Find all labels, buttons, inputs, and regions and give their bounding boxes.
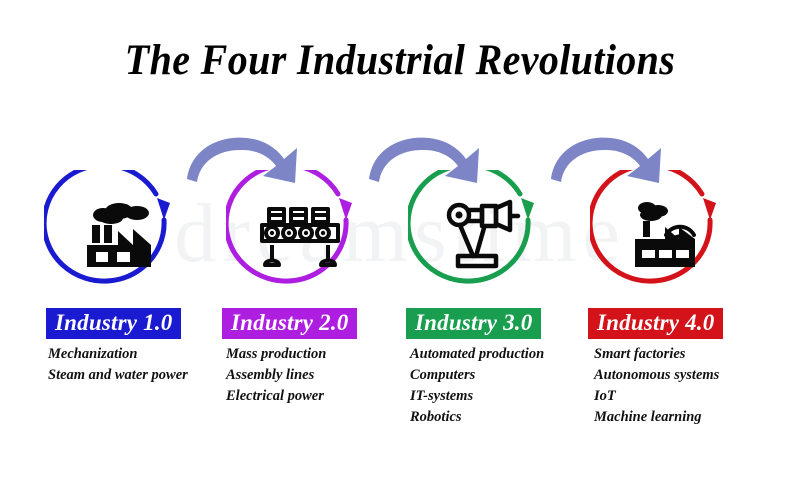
stage-industry-4[interactable]: Industry 4.0 Smart factories Autonomous … (580, 170, 770, 428)
stage-3-icon-circle (408, 170, 556, 302)
list-item: Mechanization (48, 344, 224, 365)
list-item: IT-systems (410, 386, 588, 407)
stage-2-label: Industry 2.0 (222, 308, 357, 339)
stage-3-points: Automated production Computers IT-system… (410, 344, 588, 428)
list-item: Smart factories (594, 344, 770, 365)
list-item: Machine learning (594, 407, 770, 428)
list-item: Electrical power (226, 386, 406, 407)
stage-4-points: Smart factories Autonomous systems IoT M… (594, 344, 770, 428)
smart-factory-wifi-icon (621, 197, 707, 275)
stage-industry-3[interactable]: Industry 3.0 Automated production Comput… (398, 170, 588, 428)
list-item: Robotics (410, 407, 588, 428)
list-item: Automated production (410, 344, 588, 365)
list-item: IoT (594, 386, 770, 407)
stage-1-points: Mechanization Steam and water power (48, 344, 224, 386)
conveyor-belt-icon (254, 199, 346, 273)
stage-industry-1[interactable]: Industry 1.0 Mechanization Steam and wat… (34, 170, 224, 386)
list-item: Computers (410, 365, 588, 386)
infographic-canvas: The Four Industrial Revolutions dreamsti… (0, 0, 800, 493)
stage-industry-2[interactable]: Industry 2.0 Mass production Assembly li… (216, 170, 406, 407)
robotic-arm-icon (440, 198, 524, 274)
list-item: Steam and water power (48, 365, 224, 386)
stage-4-icon-circle (590, 170, 738, 302)
page-title: The Four Industrial Revolutions (28, 36, 772, 85)
list-item: Assembly lines (226, 365, 406, 386)
stage-2-icon-circle (226, 170, 374, 302)
factory-smokestack-icon (75, 199, 161, 273)
list-item: Mass production (226, 344, 406, 365)
stage-4-label: Industry 4.0 (588, 308, 723, 339)
stage-1-icon-circle (44, 170, 192, 302)
stage-1-label: Industry 1.0 (46, 308, 181, 339)
list-item: Autonomous systems (594, 365, 770, 386)
stage-3-label: Industry 3.0 (406, 308, 541, 339)
stage-2-points: Mass production Assembly lines Electrica… (226, 344, 406, 407)
